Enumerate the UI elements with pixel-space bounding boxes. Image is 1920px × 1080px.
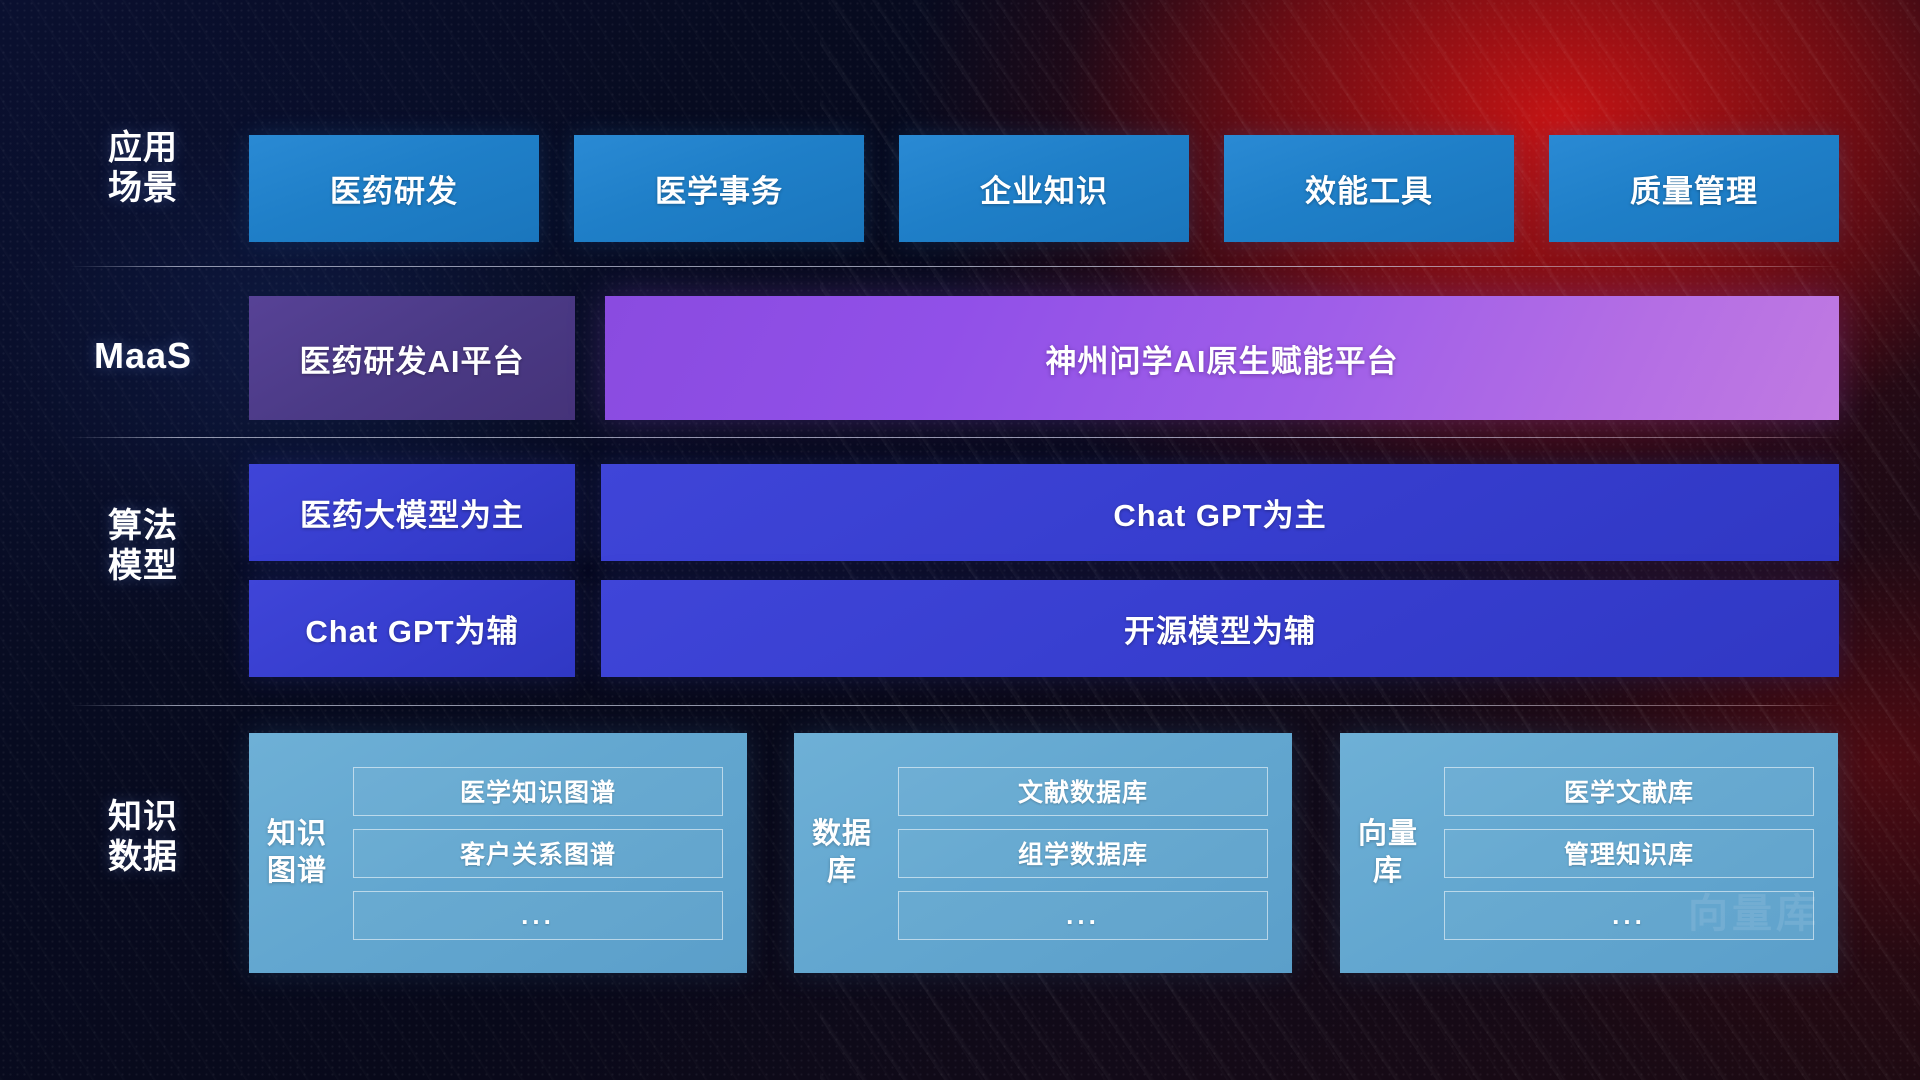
knowledge-panel-database[interactable]: 数据 库 文献数据库 组学数据库 ... [794,733,1292,973]
row-label-algorithm: 算法 模型 [78,506,208,586]
algo-card-label: Chat GPT为辅 [305,606,518,651]
algo-card-label: 开源模型为辅 [1124,606,1316,651]
app-card-1[interactable]: 医学事务 [574,135,864,242]
app-card-3[interactable]: 效能工具 [1224,135,1514,242]
knowledge-item-more[interactable]: ... [898,891,1268,940]
knowledge-item[interactable]: 医学知识图谱 [353,767,723,816]
row-label-knowledge: 知识 数据 [78,797,208,877]
knowledge-item[interactable]: 医学文献库 [1444,767,1814,816]
app-card-label: 效能工具 [1305,166,1433,211]
maas-card-platform-rd[interactable]: 医药研发AI平台 [249,296,575,420]
knowledge-item[interactable]: 文献数据库 [898,767,1268,816]
divider-maas [70,437,1840,438]
divider-application [70,266,1840,267]
knowledge-item[interactable]: 客户关系图谱 [353,829,723,878]
algo-card-0[interactable]: 医药大模型为主 [249,464,575,561]
knowledge-panel-items: 医学知识图谱 客户关系图谱 ... [345,749,747,958]
maas-card-label: 神州问学AI原生赋能平台 [1046,336,1399,381]
knowledge-item-more[interactable]: ... [1444,891,1814,940]
knowledge-item[interactable]: 管理知识库 [1444,829,1814,878]
knowledge-panel-items: 医学文献库 管理知识库 ... [1436,749,1838,958]
app-card-label: 质量管理 [1630,166,1758,211]
knowledge-panel-vector[interactable]: 向量库 向量 库 医学文献库 管理知识库 ... [1340,733,1838,973]
app-card-label: 企业知识 [980,166,1108,211]
knowledge-item[interactable]: 组学数据库 [898,829,1268,878]
row-label-application: 应用 场景 [78,128,208,208]
knowledge-panel-label: 向量 库 [1340,816,1436,889]
row-label-maas: MaaS [78,335,208,377]
divider-algorithm [70,705,1840,706]
algo-card-2[interactable]: Chat GPT为辅 [249,580,575,677]
app-card-label: 医学事务 [655,166,783,211]
app-card-2[interactable]: 企业知识 [899,135,1189,242]
diagram-canvas: 应用 场景 医药研发 医学事务 企业知识 效能工具 质量管理 MaaS 医药研发… [0,0,1920,1080]
algo-card-3[interactable]: 开源模型为辅 [601,580,1839,677]
algo-card-1[interactable]: Chat GPT为主 [601,464,1839,561]
knowledge-panel-items: 文献数据库 组学数据库 ... [890,749,1292,958]
maas-card-label: 医药研发AI平台 [300,336,525,381]
knowledge-item-more[interactable]: ... [353,891,723,940]
maas-card-platform-main[interactable]: 神州问学AI原生赋能平台 [605,296,1839,420]
app-card-0[interactable]: 医药研发 [249,135,539,242]
algo-card-label: Chat GPT为主 [1113,490,1326,535]
app-card-4[interactable]: 质量管理 [1549,135,1839,242]
knowledge-panel-label: 数据 库 [794,816,890,889]
knowledge-panel-graph[interactable]: 知识 图谱 医学知识图谱 客户关系图谱 ... [249,733,747,973]
app-card-label: 医药研发 [330,166,458,211]
algo-card-label: 医药大模型为主 [300,490,524,535]
knowledge-panel-label: 知识 图谱 [249,816,345,889]
